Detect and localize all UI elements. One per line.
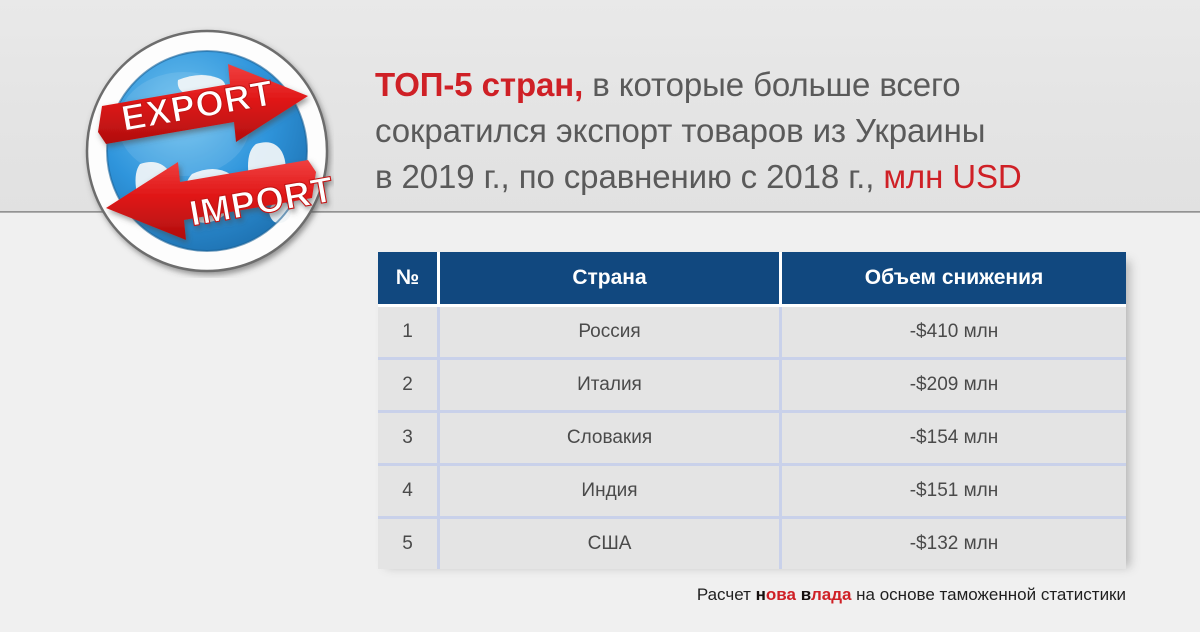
cell-country: Россия bbox=[440, 307, 782, 360]
table-row: 1 Россия -$410 млн bbox=[378, 307, 1126, 360]
brand-nova-vlada: нова влада bbox=[756, 585, 852, 604]
headline-line-2: сократился экспорт товаров из Украины bbox=[375, 108, 1175, 154]
headline-unit: млн USD bbox=[883, 158, 1021, 195]
source-note: Расчет нова влада на основе таможенной с… bbox=[378, 585, 1126, 605]
table-header-row: № Страна Объем снижения bbox=[378, 252, 1126, 307]
cell-number: 3 bbox=[378, 413, 440, 466]
table-row: 3 Словакия -$154 млн bbox=[378, 413, 1126, 466]
cell-value: -$410 млн bbox=[782, 307, 1126, 360]
brand-letter-v: в bbox=[801, 585, 811, 604]
headline-emphasis: ТОП-5 стран, bbox=[375, 66, 583, 103]
cell-country: Словакия bbox=[440, 413, 782, 466]
table-row: 5 США -$132 млн bbox=[378, 519, 1126, 569]
source-prefix: Расчет bbox=[697, 585, 756, 604]
column-header-country: Страна bbox=[440, 252, 782, 307]
infographic-page: { "colors": { "accent_red": "#cf2026", "… bbox=[0, 0, 1200, 632]
table-row: 2 Италия -$209 млн bbox=[378, 360, 1126, 413]
headline-line-1-rest: в которые больше всего bbox=[583, 66, 960, 103]
cell-country: Италия bbox=[440, 360, 782, 413]
cell-value: -$209 млн bbox=[782, 360, 1126, 413]
column-header-number: № bbox=[378, 252, 440, 307]
cell-country: США bbox=[440, 519, 782, 569]
ranking-table: № Страна Объем снижения 1 Россия -$410 м… bbox=[378, 252, 1126, 569]
cell-number: 2 bbox=[378, 360, 440, 413]
table-row: 4 Индия -$151 млн bbox=[378, 466, 1126, 519]
column-header-value: Объем снижения bbox=[782, 252, 1126, 307]
brand-part-lada: лада bbox=[811, 585, 852, 604]
export-import-globe-logo: EXPORT IMPORT bbox=[80, 24, 334, 278]
source-suffix: на основе таможенной статистики bbox=[851, 585, 1126, 604]
headline-line-3: в 2019 г., по сравнению с 2018 г., млн U… bbox=[375, 154, 1175, 200]
cell-number: 1 bbox=[378, 307, 440, 360]
cell-value: -$151 млн bbox=[782, 466, 1126, 519]
brand-part-ova: ова bbox=[766, 585, 796, 604]
brand-letter-n: н bbox=[756, 585, 766, 604]
cell-value: -$132 млн bbox=[782, 519, 1126, 569]
headline-line-1: ТОП-5 стран, в которые больше всего bbox=[375, 62, 1175, 108]
page-title: ТОП-5 стран, в которые больше всего сокр… bbox=[375, 62, 1175, 200]
cell-number: 4 bbox=[378, 466, 440, 519]
headline-line-3-main: в 2019 г., по сравнению с 2018 г., bbox=[375, 158, 883, 195]
cell-country: Индия bbox=[440, 466, 782, 519]
cell-value: -$154 млн bbox=[782, 413, 1126, 466]
cell-number: 5 bbox=[378, 519, 440, 569]
